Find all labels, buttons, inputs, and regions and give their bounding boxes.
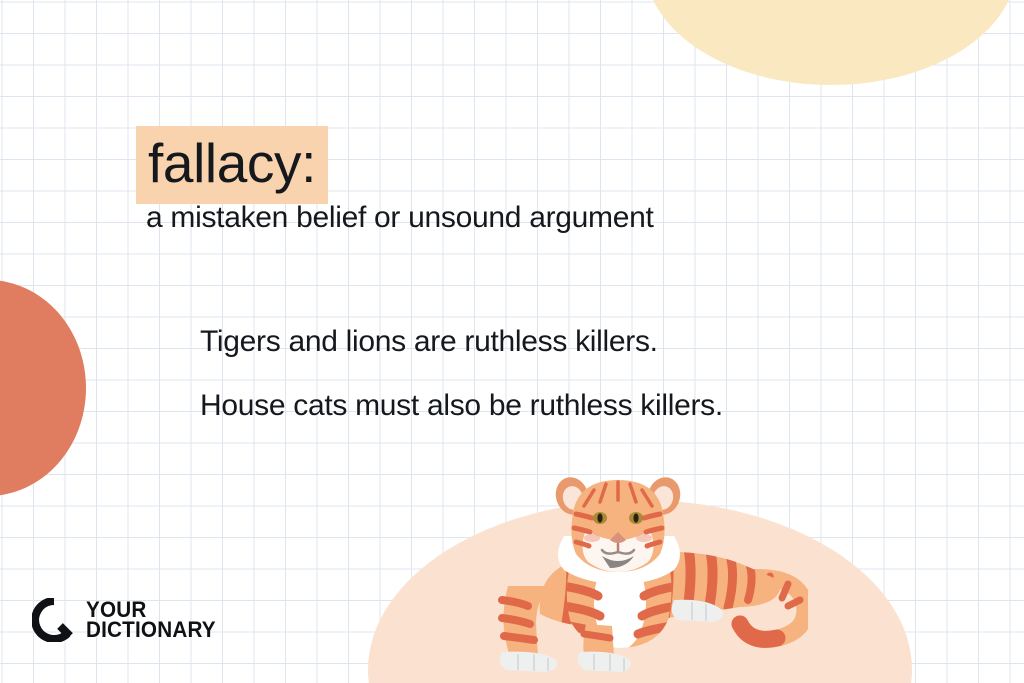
tiger-cheek-right [636, 534, 652, 542]
example-sentence-premise: Tigers and lions are ruthless killers. [200, 325, 980, 359]
definition-text: a mistaken belief or unsound argument [146, 201, 654, 235]
headword-container: fallacy: [136, 126, 328, 204]
logo-line-dictionary: DICTIONARY [86, 620, 216, 640]
tiger-illustration [478, 474, 808, 679]
headword: fallacy: [136, 126, 328, 204]
logo-wordmark: YOUR DICTIONARY [86, 600, 224, 640]
yourdictionary-logo[interactable]: YOUR DICTIONARY [32, 598, 224, 642]
example-list: Tigers and lions are ruthless killers. H… [200, 325, 980, 423]
tiger-cheek-left [584, 534, 600, 542]
definition-card: fallacy: a mistaken belief or unsound ar… [0, 0, 1024, 683]
example-sentence-conclusion: House cats must also be ruthless killers… [200, 389, 980, 423]
q-ring-icon [32, 598, 76, 642]
